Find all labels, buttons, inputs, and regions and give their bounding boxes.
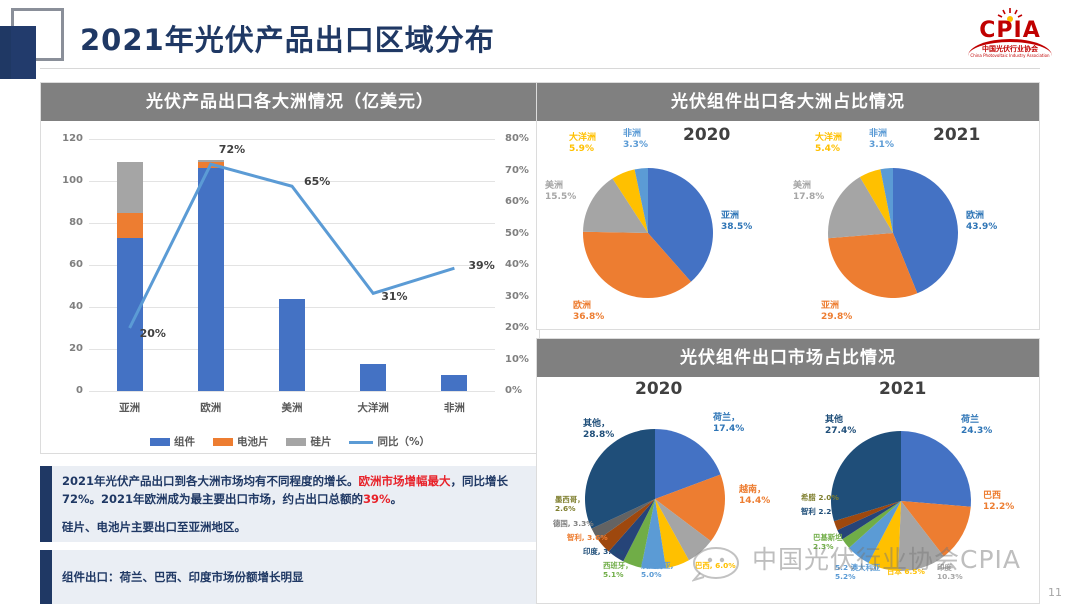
legend-swatch xyxy=(213,438,233,446)
note-1-text-a: 2021年光伏产品出口到各大洲市场均有不同程度的增长。 xyxy=(62,474,359,488)
legend-swatch xyxy=(286,438,306,446)
pie-slice-label: 非洲3.1% xyxy=(869,129,894,152)
pie-slice-label: 巴西12.2% xyxy=(983,491,1014,514)
pie-slice-label: 亚洲38.5% xyxy=(721,211,752,234)
continent-pie-2021: 2021欧洲43.9%亚洲29.8%美洲17.8%大洋洲5.4%非洲3.1% xyxy=(793,123,1036,328)
note-1-highlight-2: 39% xyxy=(363,492,391,506)
note-paragraph-1: 2021年光伏产品出口到各大洲市场均有不同程度的增长。欧洲市场增幅最大，同比增长… xyxy=(62,472,530,509)
continent-pie-2020: 2020亚洲38.5%欧洲36.8%美洲15.5%大洋洲5.9%非洲3.3% xyxy=(543,123,791,328)
pie-slice-label: 其他，28.8% xyxy=(583,419,614,442)
continent-share-panel: 光伏组件出口各大洲占比情况 2020亚洲38.5%欧洲36.8%美洲15.5%大… xyxy=(536,82,1040,330)
title-divider xyxy=(40,68,1040,69)
legend-item[interactable]: 同比（%） xyxy=(349,434,430,449)
note-1-highlight-1: 欧洲市场增幅最大 xyxy=(359,474,451,488)
pie-slice-label: 荷兰24.3% xyxy=(961,415,992,438)
yoy-data-label: 72% xyxy=(219,143,245,156)
legend-label: 电池片 xyxy=(237,436,269,448)
pie-slice[interactable] xyxy=(901,431,971,507)
yoy-line-series xyxy=(41,121,539,453)
pie-slice-label: 欧洲43.9% xyxy=(966,211,997,234)
notes-block: 2021年光伏产品出口到各大洲市场均有不同程度的增长。欧洲市场增幅最大，同比增长… xyxy=(40,466,540,604)
pie-slice-label: 西班牙，5.1% xyxy=(603,561,633,580)
note-1-text-c: 。 xyxy=(391,492,403,506)
pie-slice-label: 荷兰，17.4% xyxy=(713,413,744,436)
legend-label: 硅片 xyxy=(310,436,331,448)
decorative-square-filled-overlap xyxy=(11,26,36,79)
pie-slice-label: 墨西哥，2.6% xyxy=(555,495,585,514)
pie-slice-label: 智利, 3.6% xyxy=(567,533,608,542)
wechat-watermark: 中国光伏行业协会CPIA xyxy=(700,540,1040,586)
logo-english-name: China Photovoltaic Industry Association xyxy=(962,53,1058,58)
pie-slice-label: 大洋洲5.4% xyxy=(815,133,842,156)
yoy-data-label: 65% xyxy=(304,175,330,188)
page-number: 11 xyxy=(1048,586,1062,599)
pie-slice-label: 印度, 3.9% xyxy=(583,547,624,556)
cpia-logo: CPIA 中国光伏行业协会 China Photovoltaic Industr… xyxy=(962,6,1058,62)
pie-slice-label: 非洲3.3% xyxy=(623,129,648,152)
watermark-text: 中国光伏行业协会CPIA xyxy=(752,540,1021,576)
continent-share-panel-header: 光伏组件出口各大洲占比情况 xyxy=(537,83,1039,121)
bar-chart-panel-header: 光伏产品出口各大洲情况（亿美元） xyxy=(41,83,539,121)
bar-chart-panel: 光伏产品出口各大洲情况（亿美元） 0204060801001200%10%20%… xyxy=(40,82,540,454)
yoy-data-label: 31% xyxy=(381,290,407,303)
legend-item[interactable]: 硅片 xyxy=(286,434,331,449)
note-accent-bar-2 xyxy=(40,550,52,604)
note-paragraph-3: 组件出口：荷兰、巴西、印度市场份额增长明显 xyxy=(62,568,304,586)
export-by-continent-bar-chart: 0204060801001200%10%20%30%40%50%60%70%80… xyxy=(41,121,539,453)
yoy-data-label: 20% xyxy=(140,327,166,340)
yoy-data-label: 39% xyxy=(468,259,494,272)
pie-slice-label: 美洲15.5% xyxy=(545,181,576,204)
pie-slice-label: 希腊 2.0% xyxy=(801,493,839,502)
legend-item[interactable]: 组件 xyxy=(150,434,195,449)
pie-slice-label: 其他27.4% xyxy=(825,415,856,438)
bar-chart-legend: 组件电池片硅片同比（%） xyxy=(41,434,539,449)
wechat-icon xyxy=(692,546,750,586)
pie-slice-label: 智利 2.2% xyxy=(801,507,839,516)
pie-slice-label: 美洲17.8% xyxy=(793,181,824,204)
legend-label: 组件 xyxy=(174,436,195,448)
pie-slice-label: 欧洲36.8% xyxy=(573,301,604,324)
legend-swatch-line xyxy=(349,441,373,444)
pie-slice-label: 越南，14.4% xyxy=(739,485,770,508)
page-title: 2021年光伏产品出口区域分布 xyxy=(80,17,495,59)
pie-slice-label: 德国, 3.3% xyxy=(553,519,594,528)
market-share-panel-header: 光伏组件出口市场占比情况 xyxy=(537,339,1039,377)
pie-slice-label: 澳大利亚,5.0% xyxy=(641,561,673,580)
note-accent-bar-1 xyxy=(40,466,52,542)
pie-slice-label: 大洋洲5.9% xyxy=(569,133,596,156)
note-paragraph-2: 硅片、电池片主要出口至亚洲地区。 xyxy=(62,518,530,536)
legend-swatch xyxy=(150,438,170,446)
legend-item[interactable]: 电池片 xyxy=(213,434,269,449)
pie-slice-label: 亚洲29.8% xyxy=(821,301,852,324)
legend-label: 同比（%） xyxy=(377,436,430,448)
